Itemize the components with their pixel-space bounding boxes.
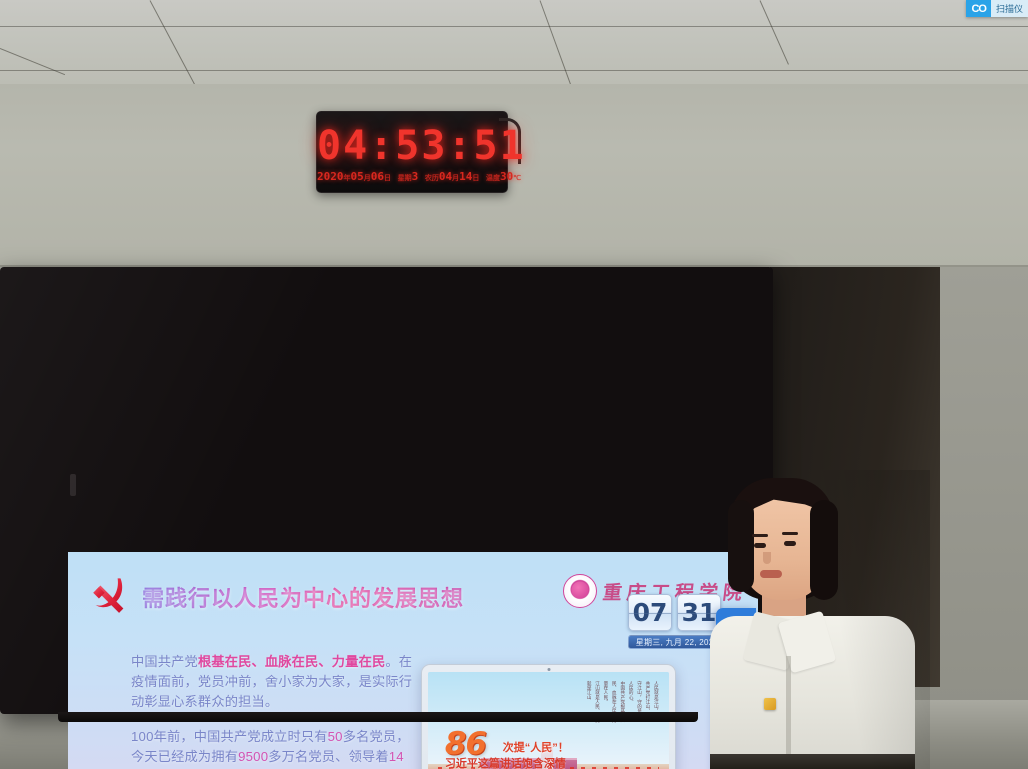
belt — [710, 754, 915, 769]
party-pin-badge — [764, 698, 776, 710]
led-lunar-month-unit: 月 — [452, 174, 459, 182]
display-side-button[interactable] — [70, 474, 76, 496]
school-seal-icon — [563, 574, 597, 608]
led-temp-value: 30 — [500, 170, 513, 183]
led-weekday-label: 星期 — [398, 174, 412, 182]
led-temp-unit: ℃ — [513, 174, 521, 182]
led-lunar-label: 农历 — [425, 174, 439, 182]
led-month: 05 — [351, 170, 364, 183]
led-lunar-day-unit: 日 — [472, 174, 479, 182]
run-text-highlight: 根基在民、血脉在民、力量在民 — [198, 654, 385, 669]
eye-right — [784, 541, 796, 546]
presentation-slide[interactable]: 需践行以人民为中心的发展思想 重庆工程学院 07 31 星期三, 九月 22, … — [68, 552, 758, 769]
paragraph-1: 中国共产党根基在民、血脉在民、力量在民。在疫情面前，党员冲前，舍小家为大家，是实… — [131, 652, 416, 712]
nose — [763, 552, 771, 564]
run-text: 中国共产党 — [131, 654, 198, 669]
led-month-unit: 月 — [364, 174, 371, 182]
slide-body-text: 中国共产党根基在民、血脉在民、力量在民。在疫情面前，党员冲前，舍小家为大家，是实… — [131, 652, 416, 769]
poster-headline-3-text: 饱含深情 — [522, 758, 566, 769]
led-day-unit: 日 — [384, 174, 391, 182]
poster-headline-1: 次提“人民”！ — [503, 739, 569, 755]
page-title: 需践行以人民为中心的发展思想 — [142, 581, 464, 613]
corner-badge-icon: CO — [966, 0, 991, 17]
led-year: 2020 — [317, 170, 344, 183]
run-text: 多万名党员、领导着 — [268, 749, 389, 764]
hair-side-left — [728, 500, 754, 592]
shirt-placket — [786, 656, 791, 769]
ceiling — [0, 0, 1028, 84]
run-text-highlight: 9500 — [238, 749, 268, 764]
paragraph-2: 100年前，中国共产党成立时只有50多名党员，今天已经成为拥有9500多万名党员… — [131, 727, 416, 769]
hair-side-right — [810, 500, 838, 600]
led-temp-label: 温度 — [486, 174, 500, 182]
led-lunar-month: 04 — [439, 170, 452, 183]
led-clock-date: 2020年05月06日 星期3 农历04月14日 温度30℃ — [317, 170, 507, 183]
eyebrow-left — [752, 534, 768, 537]
corner-overlay-badge[interactable]: CO 扫描仪 — [966, 0, 1028, 17]
corner-badge-text: 扫描仪 — [991, 0, 1028, 17]
run-text: 100年前，中国共产党成立时只有 — [131, 729, 328, 744]
poster-headline-2: 习近平这篇讲话饱含深情 — [445, 755, 566, 769]
led-clock-time: 04:53:51 — [317, 123, 507, 169]
led-weekday-value: 3 — [412, 170, 419, 183]
led-lunar-day: 14 — [459, 170, 472, 183]
mouth — [760, 570, 782, 578]
led-wall-clock: 04:53:51 2020年05月06日 星期3 农历04月14日 温度30℃ — [316, 111, 508, 193]
eyebrow-right — [782, 532, 798, 535]
display-base — [58, 712, 698, 722]
led-year-unit: 年 — [344, 174, 351, 182]
run-text-highlight: 50 — [328, 729, 343, 744]
slide-title-row: 需践行以人民为中心的发展思想 — [86, 574, 464, 620]
led-day: 06 — [371, 170, 384, 183]
presenter-person — [700, 470, 930, 769]
hammer-sickle-icon — [86, 574, 132, 620]
poster-headline-2-text: 习近平这篇讲话 — [445, 758, 522, 769]
interactive-display-panel[interactable]: 需践行以人民为中心的发展思想 重庆工程学院 07 31 星期三, 九月 22, … — [0, 267, 773, 714]
clock-hour: 07 — [628, 594, 672, 631]
eye-left — [754, 543, 766, 548]
